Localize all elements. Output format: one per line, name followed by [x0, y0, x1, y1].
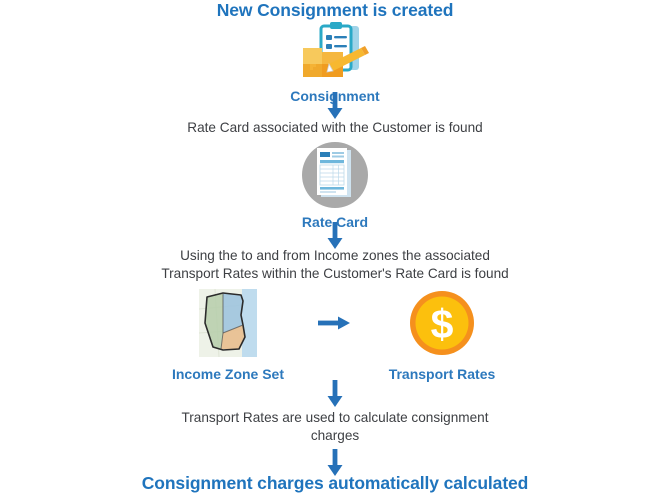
- flow-title-top: New Consignment is created: [0, 1, 670, 20]
- step-text-rate-card: Rate Card associated with the Customer i…: [0, 119, 670, 137]
- transport-rates-icon-wrap: $: [367, 286, 517, 360]
- arrow-down-icon: [326, 380, 344, 408]
- arrow-down-3: [0, 380, 670, 408]
- node-transport-rates: $ Transport Rates: [367, 286, 517, 383]
- step-text-charges: Transport Rates are used to calculate co…: [0, 409, 670, 446]
- arrow-right-icon: [318, 314, 352, 332]
- arrow-down-2: [0, 222, 670, 250]
- step-text-income-zones: Using the to and from Income zones the a…: [0, 247, 670, 284]
- step-text-charges-line2: charges: [0, 427, 670, 445]
- node-pair-zone-rates: Income Zone Set $ Transport Rates: [0, 286, 670, 383]
- zone-map-icon: [197, 287, 259, 359]
- invoice-document-icon: [300, 140, 370, 210]
- arrow-down-1: [0, 92, 670, 120]
- arrow-right-1: [303, 286, 367, 360]
- node-income-zone-set: Income Zone Set: [153, 286, 303, 383]
- dollar-coin-icon: $: [408, 289, 476, 357]
- step-text-charges-line1: Transport Rates are used to calculate co…: [0, 409, 670, 427]
- arrow-down-icon: [326, 222, 344, 250]
- step-text-income-zones-line1: Using the to and from Income zones the a…: [0, 247, 670, 265]
- clipboard-boxes-icon: [299, 22, 371, 82]
- step-text-income-zones-line2: Transport Rates within the Customer's Ra…: [0, 265, 670, 283]
- rate-card-icon-wrap: [0, 140, 670, 210]
- consignment-icon-wrap: [0, 22, 670, 82]
- node-rate-card: Rate Card: [0, 140, 670, 231]
- flowchart-diagram: New Consignment is created: [0, 0, 670, 502]
- arrow-down-icon: [326, 92, 344, 120]
- income-zone-icon-wrap: [153, 286, 303, 360]
- flow-title-bottom: Consignment charges automatically calcul…: [0, 474, 670, 493]
- svg-text:$: $: [431, 301, 454, 347]
